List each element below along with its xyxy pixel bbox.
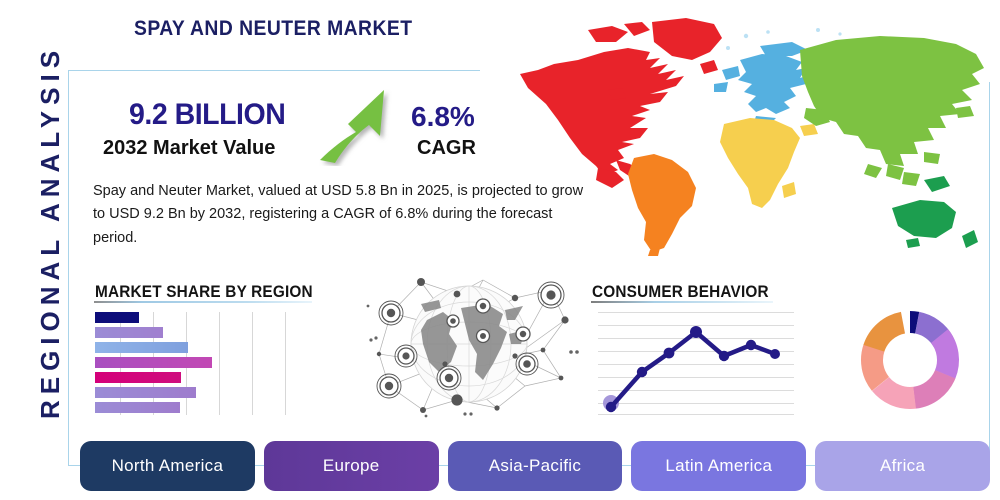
bar-row [95,327,163,338]
region-button-label: Asia-Pacific [489,456,581,476]
bar-row [95,312,139,323]
region-button-africa[interactable]: Africa [815,441,990,491]
section-title-consumer-behavior: CONSUMER BEHAVIOR [592,283,769,302]
region-button-label: North America [112,456,224,476]
region-button-europe[interactable]: Europe [264,441,439,491]
section-rule-market-share [94,301,312,303]
bar-row [95,357,212,368]
region-button-label: Europe [323,456,380,476]
globe-network-icon [365,268,580,420]
region-button-row: North America Europe Asia-Pacific Latin … [80,441,990,491]
region-button-latin-america[interactable]: Latin America [631,441,806,491]
region-button-asia-pacific[interactable]: Asia-Pacific [448,441,623,491]
market-share-bar-chart [95,312,310,415]
region-button-north-america[interactable]: North America [80,441,255,491]
bar-row [95,387,196,398]
consumer-behavior-line-chart [598,312,794,415]
world-map-icon [500,12,992,264]
market-value-caption: 2032 Market Value [103,137,275,160]
section-title-market-share: MARKET SHARE BY REGION [95,283,313,302]
market-value-figure: 9.2 BILLION [129,98,285,132]
section-rule-consumer-behavior [591,301,773,303]
page-title: SPAY AND NEUTER MARKET [134,17,412,41]
region-button-label: Africa [880,456,925,476]
bar-row [95,402,180,413]
cagr-figure: 6.8% [411,101,475,133]
growth-arrow-icon [318,84,398,166]
region-button-label: Latin America [665,456,772,476]
bar-row [95,372,181,383]
vertical-section-label: REGIONAL ANALYSIS [30,22,70,442]
infographic-root: REGIONAL ANALYSIS SPAY AND NEUTER MARKET… [0,0,1000,500]
cagr-caption: CAGR [417,137,476,160]
bar-row [95,342,188,353]
region-donut-chart [857,307,963,413]
